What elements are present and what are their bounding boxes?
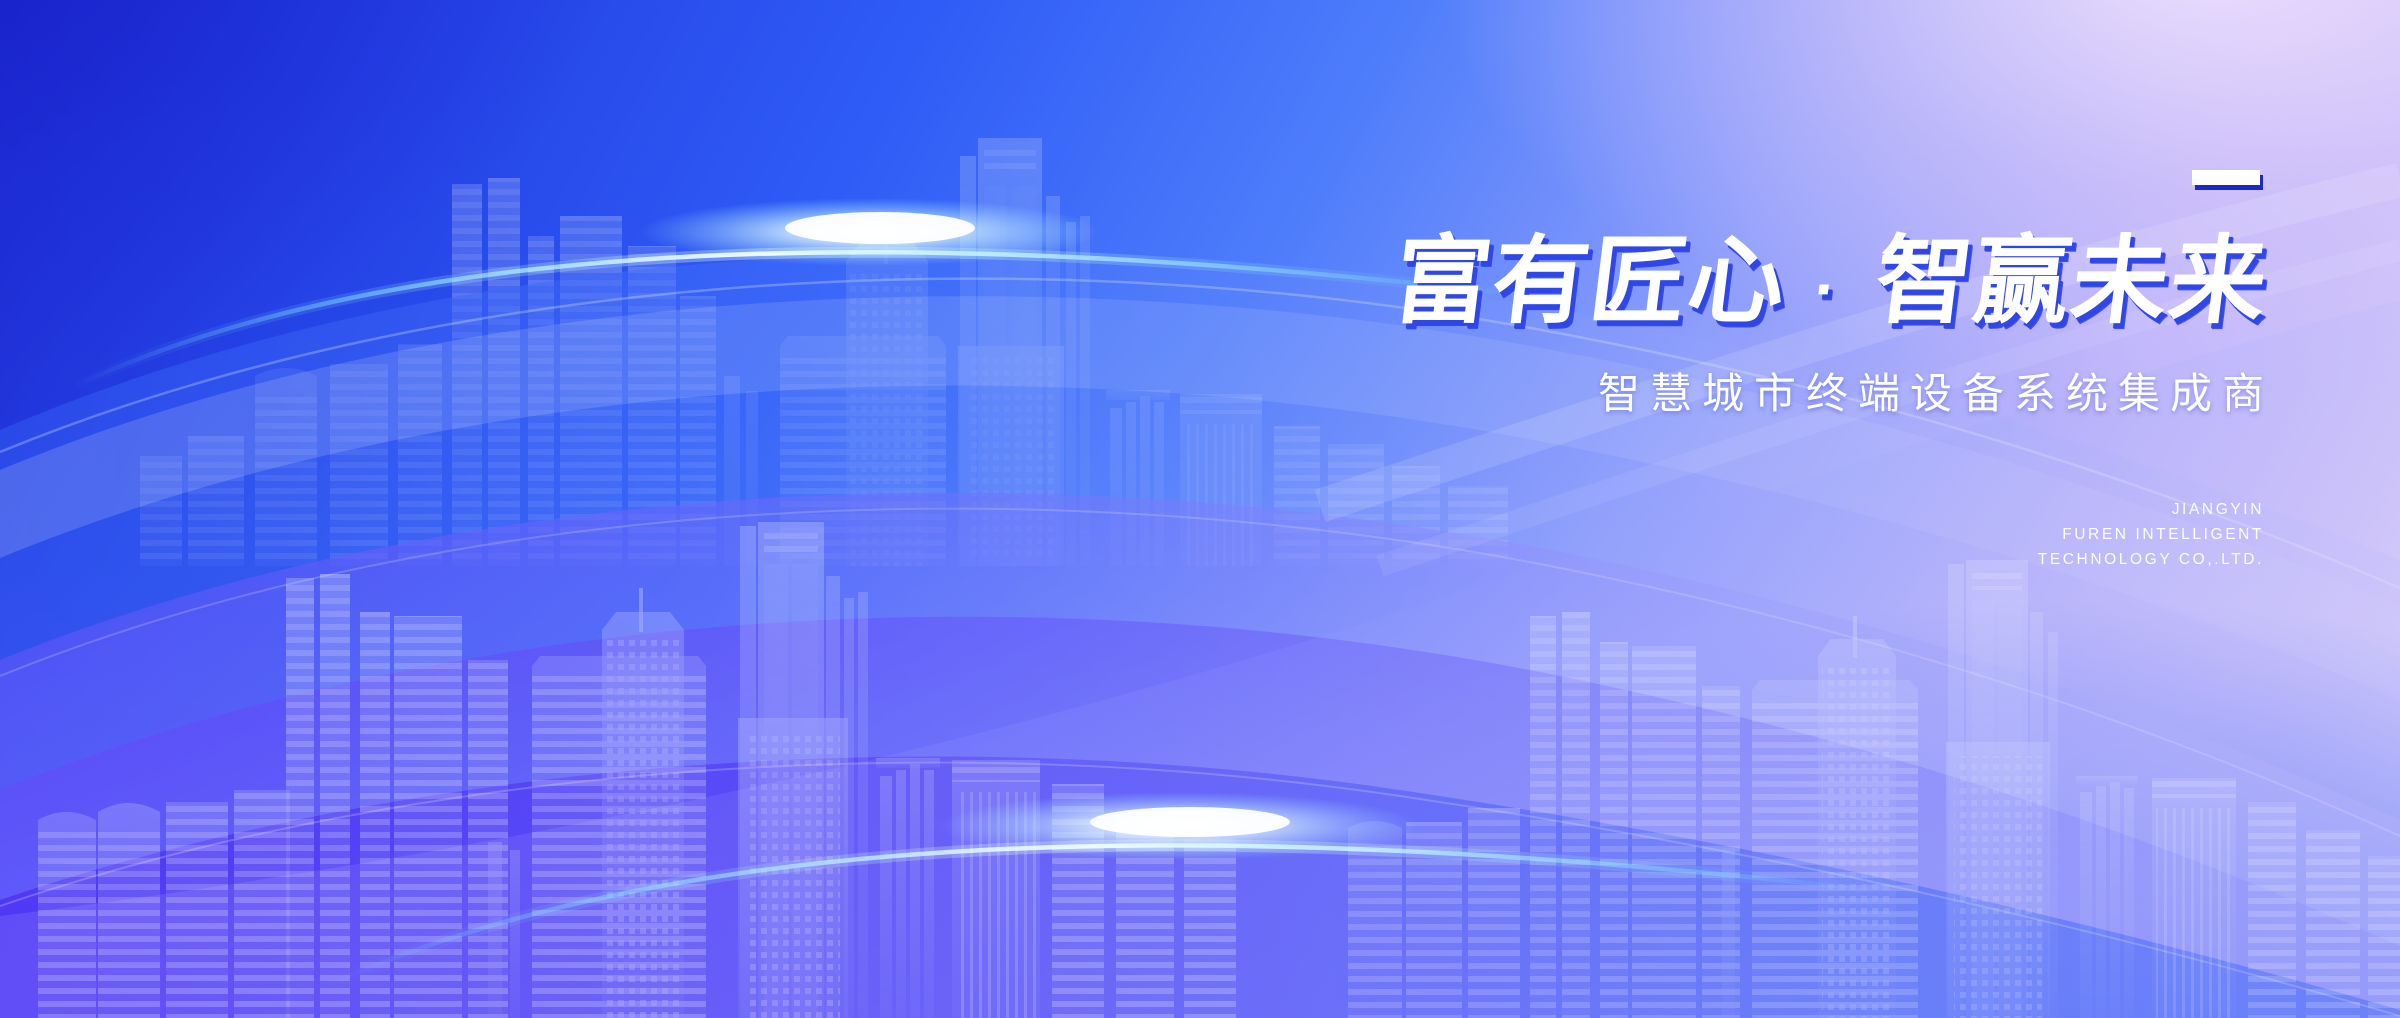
banner-root: 富有匠心 · 智赢未来 智慧城市终端设备系统集成商 JIANGYIN FUREN… <box>0 0 2400 1018</box>
city-skyline-bottom-left-icon <box>0 520 1240 1018</box>
company-line-3: TECHNOLOGY CO,.LTD. <box>1364 547 2264 572</box>
company-line-2: FUREN INTELLIGENT <box>1364 522 2264 547</box>
title-separator-dot: · <box>1810 252 1851 326</box>
page-title: 富有匠心 · 智赢未来 <box>1358 234 2274 330</box>
city-skyline-bottom-right-icon <box>1300 560 2400 1018</box>
title-part-left: 富有匠心 <box>1388 228 1793 335</box>
title-part-right: 智赢未来 <box>1869 228 2274 335</box>
company-line-1: JIANGYIN <box>1364 497 2264 522</box>
company-name-block: JIANGYIN FUREN INTELLIGENT TECHNOLOGY CO… <box>1364 497 2264 572</box>
page-subtitle: 智慧城市终端设备系统集成商 <box>1364 360 2274 421</box>
headline-block: 富有匠心 · 智赢未来 智慧城市终端设备系统集成商 JIANGYIN FUREN… <box>1364 170 2264 572</box>
accent-dash-icon <box>2192 170 2260 185</box>
